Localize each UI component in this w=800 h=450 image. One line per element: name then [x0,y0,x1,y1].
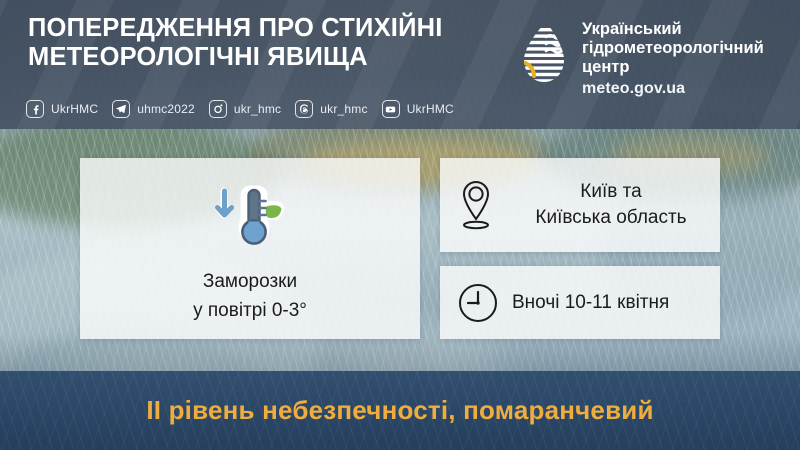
falling-arrow-icon [218,191,232,215]
water-droplet-logo-icon [516,20,568,86]
social-links: UkrHMC uhmc2022 ukr_hmc [26,100,468,118]
social-handle-telegram: uhmc2022 [137,102,195,116]
warning-level-text: II рівень небезпечності, помаранчевий [146,395,653,426]
logo-line3: центр [582,58,764,77]
region-line1: Київ та [508,179,714,205]
threads-icon [295,100,313,118]
logo-line2: гідрометеорологічний [582,39,764,58]
facebook-icon [26,100,44,118]
social-handle-youtube: UkrHMC [407,102,454,116]
social-handle-instagram: ukr_hmc [234,102,281,116]
youtube-icon [382,100,400,118]
instagram-icon [209,100,227,118]
organization-name: Український гідрометеорологічний центр m… [582,20,764,98]
organization-logo[interactable]: Український гідрометеорологічний центр m… [516,20,764,98]
region-card: Київ та Київська область [440,158,720,252]
social-handle-threads: ukr_hmc [320,102,367,116]
page-title-line2: МЕТЕОРОЛОГІЧНІ ЯВИЩА [28,43,498,72]
region-line2: Київська область [508,205,714,231]
social-link-facebook[interactable]: UkrHMC [26,100,98,118]
social-link-instagram[interactable]: ukr_hmc [209,100,281,118]
page-title: ПОПЕРЕДЖЕННЯ ПРО СТИХІЙНІ МЕТЕОРОЛОГІЧНІ… [28,14,498,72]
social-link-telegram[interactable]: uhmc2022 [112,100,195,118]
clock-icon [456,281,500,325]
telegram-icon [112,100,130,118]
warning-level-band: II рівень небезпечності, помаранчевий [0,371,800,450]
social-link-youtube[interactable]: UkrHMC [382,100,454,118]
hazard-line2: у повітрі 0-3° [193,296,307,325]
logo-website-url[interactable]: meteo.gov.ua [582,80,764,98]
region-description: Київ та Київська область [508,179,720,231]
location-pin-icon [456,178,496,232]
page-title-line1: ПОПЕРЕДЖЕННЯ ПРО СТИХІЙНІ [28,14,498,43]
logo-line1: Український [582,20,764,39]
time-description: Вночі 10-11 квітня [512,292,669,314]
hazard-card: Заморозки у повітрі 0-3° [80,158,420,339]
warning-poster: ПОПЕРЕДЖЕННЯ ПРО СТИХІЙНІ МЕТЕОРОЛОГІЧНІ… [0,0,800,450]
thermometer-falling-icon [212,175,288,255]
hazard-line1: Заморозки [193,267,307,296]
header-band: ПОПЕРЕДЖЕННЯ ПРО СТИХІЙНІ МЕТЕОРОЛОГІЧНІ… [0,0,800,129]
hazard-description: Заморозки у повітрі 0-3° [193,267,307,325]
social-handle-facebook: UkrHMC [51,102,98,116]
time-card: Вночі 10-11 квітня [440,266,720,339]
social-link-threads[interactable]: ukr_hmc [295,100,367,118]
